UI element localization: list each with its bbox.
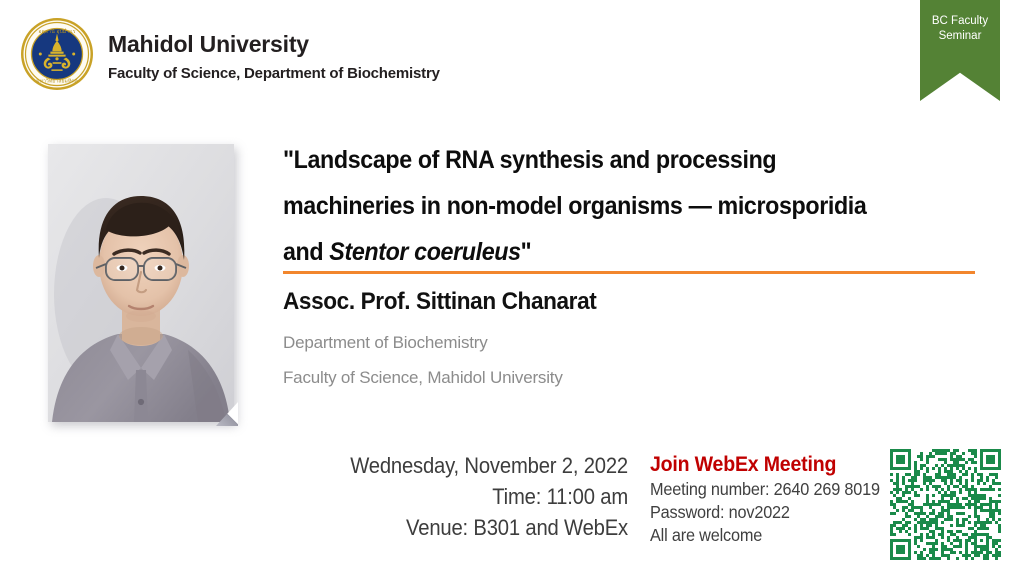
webex-welcome-note: All are welcome — [650, 524, 873, 547]
department-name: Faculty of Science, Department of Bioche… — [108, 66, 440, 83]
join-webex-meeting-label[interactable]: Join WebEx Meeting — [650, 452, 873, 478]
speaker-photo-frame — [48, 144, 234, 422]
bc-faculty-seminar-ribbon: BC Faculty Seminar — [920, 0, 1000, 101]
webex-password: Password: nov2022 — [650, 501, 873, 524]
svg-text:มหาวิทยาลัยมหิดล: มหาวิทยาลัยมหิดล — [36, 78, 78, 85]
talk-title-suffix: " — [521, 238, 532, 266]
talk-title: "Landscape of RNA synthesis and processi… — [283, 137, 983, 275]
event-date: Wednesday, November 2, 2022 — [326, 450, 628, 481]
mahidol-seal-icon: อตฺตานํ อุปมํ กเร มหาวิทยาลัยมหิดล — [18, 12, 96, 96]
event-details: Wednesday, November 2, 2022 Time: 11:00 … — [300, 450, 628, 543]
webex-meeting-number: Meeting number: 2640 269 8019 — [650, 478, 873, 501]
speaker-name: Assoc. Prof. Sittinan Chanarat — [283, 288, 941, 316]
speaker-portrait-photo — [48, 144, 234, 422]
talk-title-line-2: machineries in non-model organisms — mic… — [283, 183, 934, 229]
event-venue: Venue: B301 and WebEx — [326, 512, 628, 543]
svg-text:อตฺตานํ อุปมํ กเร: อตฺตานํ อุปมํ กเร — [38, 28, 75, 35]
organization-name: Mahidol University — [108, 32, 440, 57]
webex-details: Join WebEx Meeting Meeting number: 2640 … — [650, 452, 890, 547]
event-time: Time: 11:00 am — [326, 481, 628, 512]
poster-header: อตฺตานํ อุปมํ กเร มหาวิทยาลัยมหิดล Mahid… — [18, 12, 440, 96]
talk-title-prefix: and — [283, 238, 329, 266]
qr-code-icon[interactable] — [890, 449, 1001, 560]
talk-title-line-3: and Stentor coeruleus" — [283, 229, 934, 275]
speaker-affiliation-2: Faculty of Science, Mahidol University — [283, 369, 983, 386]
ribbon-line-2: Seminar — [920, 29, 1000, 44]
speaker-info: Assoc. Prof. Sittinan Chanarat Departmen… — [283, 288, 983, 386]
ribbon-line-1: BC Faculty — [920, 14, 1000, 29]
header-text-group: Mahidol University Faculty of Science, D… — [108, 12, 440, 83]
speaker-affiliation-1: Department of Biochemistry — [283, 334, 983, 351]
talk-title-species: Stentor coeruleus — [329, 238, 520, 266]
orange-divider — [283, 271, 975, 274]
seminar-poster: อตฺตานํ อุปมํ กเร มหาวิทยาลัยมหิดล Mahid… — [0, 0, 1024, 576]
talk-title-line-1: "Landscape of RNA synthesis and processi… — [283, 137, 934, 183]
